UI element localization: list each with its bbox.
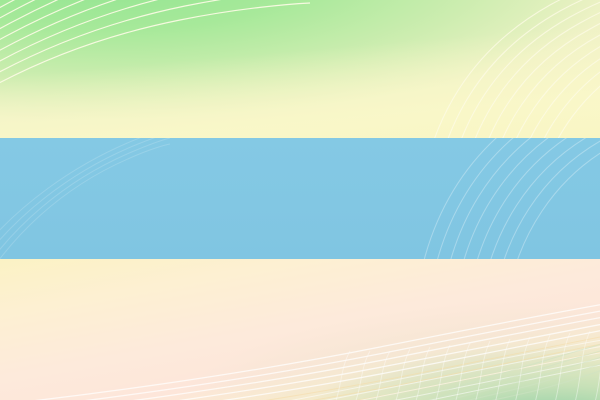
bottom-gradient-panel (0, 259, 600, 400)
promo-banner: 国内金融市场合法的股票配资平台的智能预警规则 配置从系统耦合关 (0, 0, 600, 400)
blue-headline-band: 国内金融市场合法的股票配资平台的智能预警规则 配置从系统耦合关 (0, 138, 600, 259)
bottom-right-wavy-fan-icon (190, 311, 600, 400)
bottom-right-ripple-icon (330, 321, 600, 400)
bottom-wave-fan-icon (0, 285, 600, 400)
band-arc-fan-icon (398, 138, 600, 259)
top-panel-yellow-wash (0, 0, 600, 138)
top-gradient-panel (0, 0, 600, 138)
band-left-arc-fan-icon (0, 138, 170, 259)
